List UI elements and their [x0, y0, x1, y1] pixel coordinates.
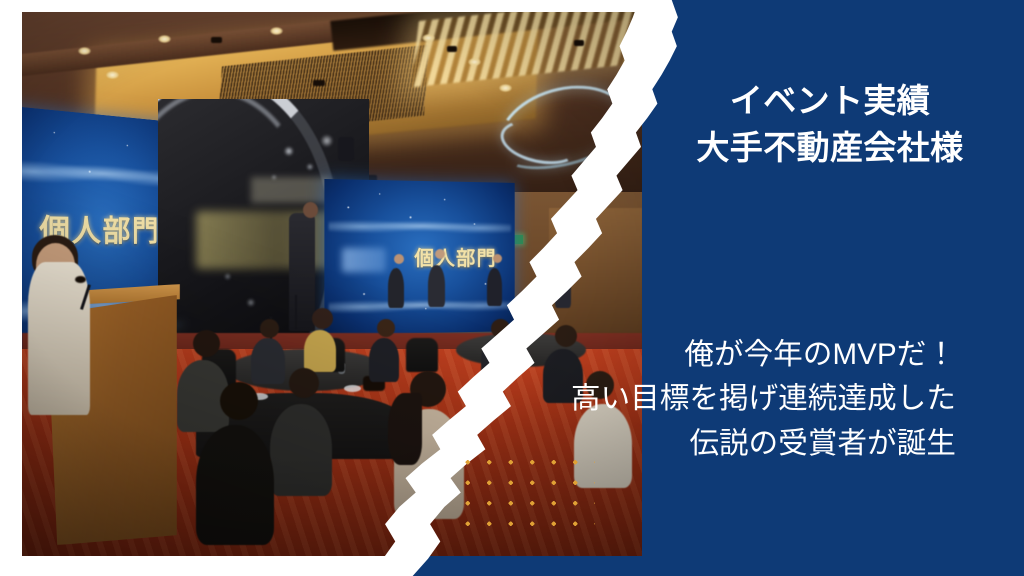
ceiling-downlight: [422, 34, 435, 42]
banquet-chair: [406, 338, 438, 372]
audience-guest: [270, 404, 332, 496]
ceiling-fixture: [447, 46, 457, 52]
ceiling-downlight: [106, 71, 119, 79]
body-copy: 俺が今年のMVPだ！ 高い目標を掲げ連続達成した 伝説の受賞者が誕生: [500, 333, 956, 466]
stage-screen-right: 個人部門: [324, 179, 514, 335]
mc-host: [28, 262, 90, 414]
body-line-3: 伝説の受賞者が誕生: [500, 422, 956, 466]
podium-microphone-head: [75, 276, 86, 283]
ceiling-fixture: [574, 40, 584, 46]
staff-person: [487, 268, 502, 306]
audience-guest-head: [289, 368, 319, 398]
screen-filigree: [328, 292, 511, 319]
award-recipient: [289, 213, 315, 331]
table-plate: [344, 385, 361, 392]
page-title: イベント実績 大手不動産会社様: [640, 78, 1020, 172]
slide-canvas: 個人部門 個人部門: [0, 0, 1024, 576]
audience-guest: [196, 425, 274, 545]
audience-guest-hair: [388, 393, 422, 465]
staff-person-head: [394, 254, 404, 264]
mic-stand: [295, 295, 297, 329]
ceiling-fixture: [313, 80, 325, 86]
audience-guest: [304, 330, 336, 372]
audience-guest: [251, 338, 285, 384]
staff-person: [428, 265, 445, 307]
body-line-2: 高い目標を掲げ連続達成した: [500, 377, 956, 421]
audience-guest-head: [193, 330, 220, 357]
screen-filigree: [328, 213, 511, 239]
headline-line-1: イベント実績: [640, 78, 1020, 125]
audience-guest-head: [377, 319, 395, 337]
staff-person: [388, 268, 404, 308]
headline-line-2: 大手不動産会社様: [640, 125, 1020, 172]
ceiling-downlight: [499, 84, 512, 92]
screen-blurred-subtext: [251, 177, 331, 203]
audience-guest: [369, 338, 399, 382]
body-line-1: 俺が今年のMVPだ！: [500, 333, 956, 377]
ceiling-fixture: [211, 37, 222, 43]
stage-moving-light: [338, 137, 354, 161]
stage-screen-right-text: 個人部門: [324, 241, 514, 271]
